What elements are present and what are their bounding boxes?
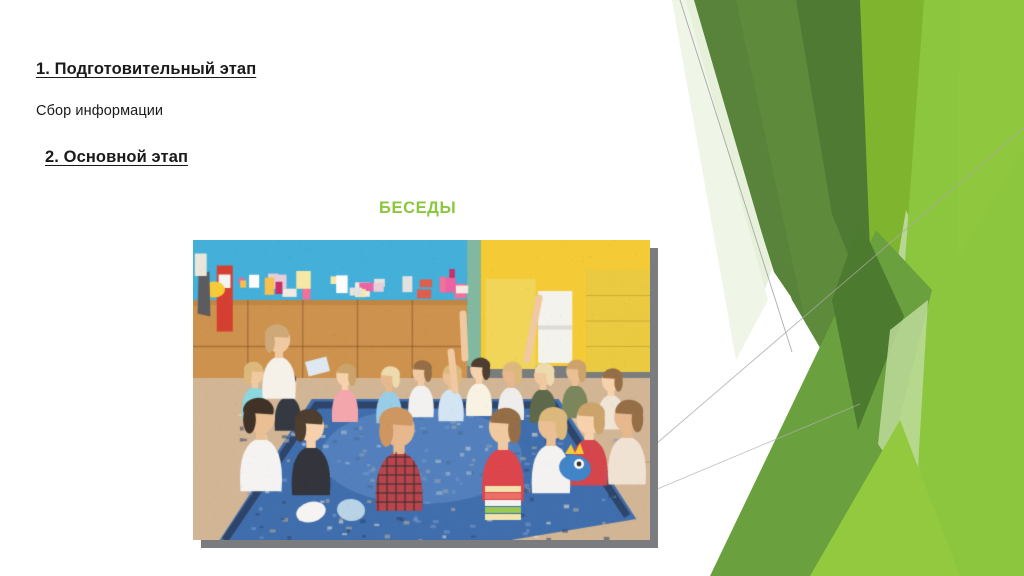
decor-shape-mid-lower [710, 230, 932, 576]
slide-canvas: 1. Подготовительный этап Сбор информации… [0, 0, 1024, 576]
decor-shape-light-left [732, 248, 920, 576]
kindergarten-group-discussion-photo [193, 240, 650, 540]
decor-shape-light-right [900, 0, 1024, 576]
decor-shape-bright-right [952, 0, 1024, 576]
decor-shape-dark-main [688, 0, 900, 392]
section-title-conversations: БЕСЕДЫ [379, 199, 456, 218]
decor-shape-pale-mid [882, 210, 932, 470]
decor-hairline-upper [680, 0, 792, 352]
decor-shape-dark-left-face [688, 0, 804, 316]
decor-shape-palest-upper [672, 0, 768, 360]
decor-shape-pale-lower [756, 300, 890, 576]
decor-shape-dark-facet [832, 220, 904, 430]
decor-shape-accent-bottom [810, 420, 960, 576]
decor-shape-dark-core [796, 0, 912, 330]
subtext-information-gathering: Сбор информации [36, 103, 163, 119]
heading-main-stage: 2. Основной этап [45, 148, 188, 167]
heading-preparatory-stage: 1. Подготовительный этап [36, 60, 256, 79]
decor-shape-pale-topleft [682, 0, 772, 318]
decor-shape-bright-mid [860, 0, 964, 420]
decor-shape-bright-lower-right [772, 150, 1024, 576]
decor-shape-pale-lowmid [878, 300, 928, 500]
photo-image [193, 240, 650, 540]
decor-shape-pale-left [796, 200, 912, 576]
